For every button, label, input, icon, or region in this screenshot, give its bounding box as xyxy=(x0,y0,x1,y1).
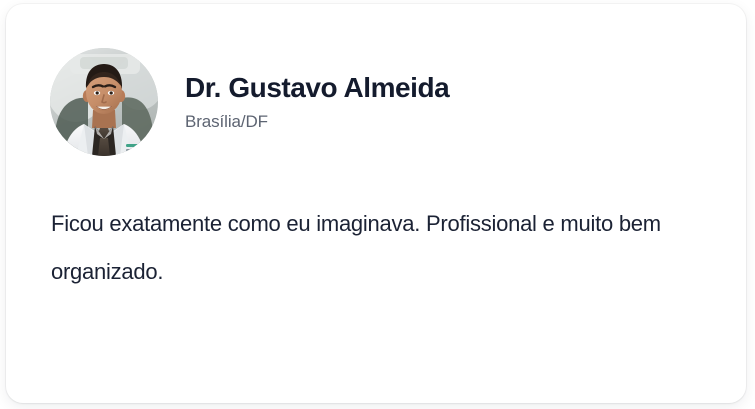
person-name: Dr. Gustavo Almeida xyxy=(185,72,449,103)
testimonial-card: Dr. Gustavo Almeida Brasília/DF Ficou ex… xyxy=(6,4,746,403)
testimonial-header: Dr. Gustavo Almeida Brasília/DF xyxy=(50,48,449,156)
testimonial-text: Ficou exatamente como eu imaginava. Prof… xyxy=(51,200,681,296)
person-location: Brasília/DF xyxy=(185,112,449,132)
person-identity: Dr. Gustavo Almeida Brasília/DF xyxy=(185,72,449,133)
avatar xyxy=(50,48,158,156)
screen-root: Dr. Gustavo Almeida Brasília/DF Ficou ex… xyxy=(0,0,755,409)
